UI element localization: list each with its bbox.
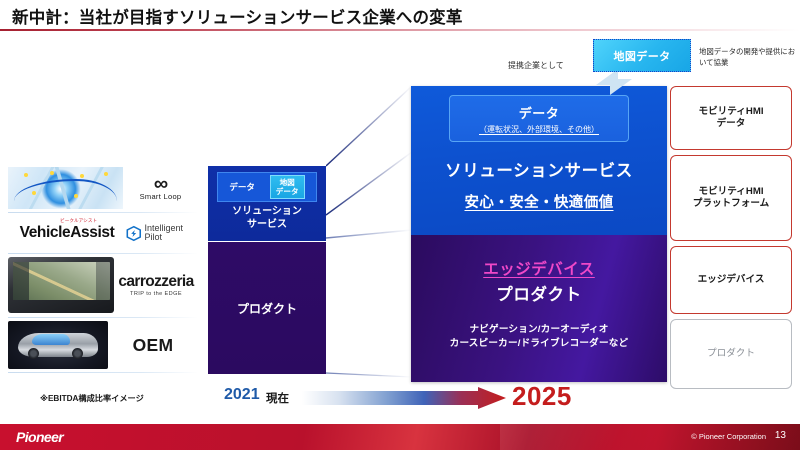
current-data-box: データ 地図 データ xyxy=(217,172,317,202)
category-box-column: モビリティHMI データ モビリティHMI プラットフォーム エッジデバイス プ… xyxy=(670,86,792,394)
infinity-icon: ∞ xyxy=(123,176,198,192)
carrozzeria-tagline: TRIP to the EDGE xyxy=(114,291,198,297)
intelligent-pilot-label: Intelligent Pilot xyxy=(145,224,198,243)
category-line1: エッジデバイス xyxy=(698,274,765,287)
current-solution-line2: サービス xyxy=(247,219,287,230)
copyright-text: © Pioneer Corporation xyxy=(691,432,766,441)
map-data-note: 地図データの開発や提供において協業 xyxy=(699,46,799,68)
car-navigation-unit-thumbnail xyxy=(8,257,114,313)
callout-arrow-icon xyxy=(592,68,640,98)
list-item: ∞ Smart Loop xyxy=(8,165,198,211)
smart-loop-label: Smart Loop xyxy=(123,192,198,201)
product-block: エッジデバイス プロダクト ナビゲーション/カーオーディオ カースピーカー/ドラ… xyxy=(411,235,667,382)
current-map-data-badge: 地図 データ xyxy=(270,175,305,199)
solution-service-value: 安心・安全・快適価値 xyxy=(411,191,667,212)
vehicle-assist-kana: ビークルアシスト xyxy=(60,218,97,224)
category-line1: モビリティHMI xyxy=(699,186,764,197)
category-line1: プロダクト xyxy=(707,348,755,361)
row-divider xyxy=(8,317,198,318)
page-number: 13 xyxy=(775,430,786,441)
pioneer-logo: Pioneer xyxy=(16,429,63,445)
smart-loop-map-thumbnail xyxy=(8,167,123,209)
map-data-callout-label: 地図データ xyxy=(614,48,671,64)
product-logo-column: ∞ Smart Loop ビークルアシスト VehicleAssist Inte… xyxy=(8,165,198,373)
oem-label: OEM xyxy=(108,335,198,356)
timeline-end-year: 2025 xyxy=(512,381,572,412)
category-box-edge-device[interactable]: エッジデバイス xyxy=(670,246,792,314)
data-sources-box: データ （運転状況、外部環境、その他） xyxy=(449,95,629,142)
category-box-product[interactable]: プロダクト xyxy=(670,319,792,389)
vehicle-assist-label: VehicleAssist xyxy=(8,224,126,242)
solution-service-title: ソリューションサービス xyxy=(411,157,667,181)
title-divider xyxy=(0,29,800,31)
data-title: データ xyxy=(519,103,560,122)
product-title: プロダクト xyxy=(411,281,667,305)
row-divider xyxy=(8,212,198,213)
intelligent-pilot-icon xyxy=(126,225,142,242)
category-line2: データ xyxy=(717,118,746,129)
row-divider xyxy=(8,372,198,373)
carrozzeria-logo: carrozzeria TRIP to the EDGE xyxy=(114,273,198,297)
category-line2: プラットフォーム xyxy=(693,198,769,209)
connector-lines xyxy=(326,80,412,380)
current-product-label: プロダクト xyxy=(237,300,297,317)
current-state-stack: データ 地図 データ ソリューション サービス プロダクト xyxy=(208,166,326,374)
list-item: OEM xyxy=(8,320,198,370)
carrozzeria-label: carrozzeria xyxy=(114,273,198,291)
category-line1: モビリティHMI xyxy=(699,106,764,117)
list-item: ビークルアシスト VehicleAssist Intelligent Pilot xyxy=(8,214,198,252)
map-data-callout: 地図データ xyxy=(593,39,691,72)
data-subtitle: （運転状況、外部環境、その他） xyxy=(479,124,599,135)
current-solution-block: データ 地図 データ ソリューション サービス xyxy=(208,166,326,241)
list-item: carrozzeria TRIP to the EDGE xyxy=(8,255,198,315)
solution-service-block: データ （運転状況、外部環境、その他） ソリューションサービス 安心・安全・快適… xyxy=(411,86,667,235)
oem-vehicle-thumbnail xyxy=(8,321,108,369)
current-map-data-line1: 地図 xyxy=(280,178,295,187)
vehicle-assist-logo: ビークルアシスト VehicleAssist xyxy=(8,224,126,242)
current-solution-label: ソリューション サービス xyxy=(208,206,326,231)
edge-device-label: エッジデバイス xyxy=(411,257,667,279)
partner-caption: 提携企業として xyxy=(508,60,564,71)
category-box-mobility-hmi-data[interactable]: モビリティHMI データ xyxy=(670,86,792,150)
product-list: ナビゲーション/カーオーディオ カースピーカー/ドライブレコーダーなど xyxy=(411,323,667,351)
row-divider xyxy=(8,253,198,254)
category-box-mobility-hmi-platform[interactable]: モビリティHMI プラットフォーム xyxy=(670,155,792,241)
current-data-label: データ xyxy=(229,181,255,193)
ebitda-note: ※EBITDA構成比率イメージ xyxy=(40,392,144,404)
intelligent-pilot-text: Intelligent Pilot xyxy=(145,223,184,243)
timeline-arrow-icon xyxy=(302,387,506,409)
page-title: 新中計：当社が目指すソリューションサービス企業への変革 xyxy=(12,4,463,28)
product-list-line2: カースピーカー/ドライブレコーダーなど xyxy=(450,338,629,349)
timeline-start-year: 2021 xyxy=(224,386,260,404)
current-solution-line1: ソリューション xyxy=(232,206,302,217)
timeline-start-label: 現在 xyxy=(266,390,289,406)
current-product-block: プロダクト xyxy=(208,242,326,374)
intelligent-pilot-logo: Intelligent Pilot xyxy=(126,224,198,243)
current-map-data-line2: データ xyxy=(276,187,299,196)
smart-loop-logo: ∞ Smart Loop xyxy=(123,176,198,201)
future-state-panel: データ （運転状況、外部環境、その他） ソリューションサービス 安心・安全・快適… xyxy=(411,86,667,382)
slide-footer: Pioneer © Pioneer Corporation 13 xyxy=(0,424,800,450)
product-list-line1: ナビゲーション/カーオーディオ xyxy=(469,324,608,335)
